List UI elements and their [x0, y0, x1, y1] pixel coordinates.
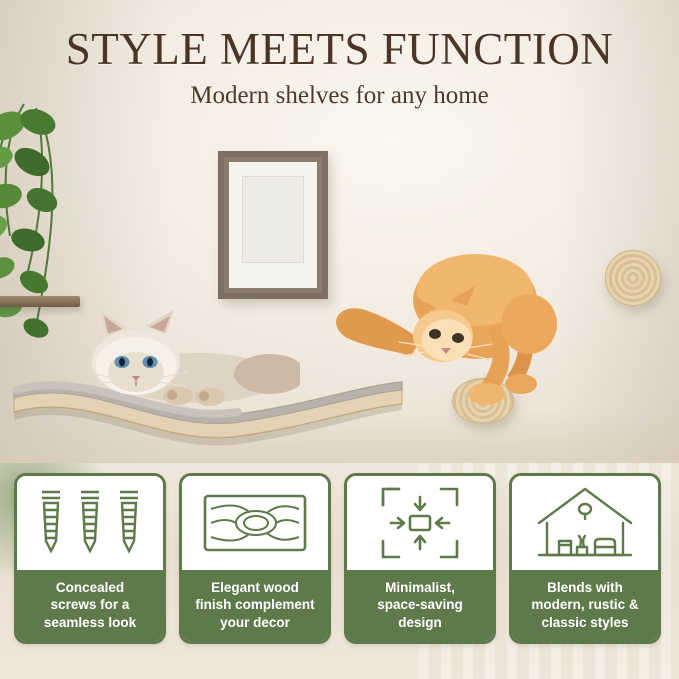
sisal-step-right — [605, 250, 661, 306]
product-infographic: Concealed screws for a seamless look — [0, 0, 679, 679]
feature-label-line: Elegant wood — [195, 579, 314, 596]
frame-mat — [229, 162, 317, 288]
feature-card-label: Minimalist, space-saving design — [347, 570, 493, 641]
feature-label-line: finish complement — [195, 596, 314, 613]
feature-card-label: Concealed screws for a seamless look — [17, 570, 163, 641]
feature-label-line: Concealed — [44, 579, 136, 596]
wall-art-frame — [218, 151, 328, 299]
minimal-space-icon — [377, 483, 463, 563]
feature-label-line: design — [377, 614, 463, 631]
feature-card-label: Elegant wood finish complement your deco… — [182, 570, 328, 641]
feature-card-label: Blends with modern, rustic & classic sty… — [512, 570, 658, 641]
card-icon-area — [182, 476, 328, 570]
plant-shelf — [0, 296, 80, 307]
header-block: STYLE MEETS FUNCTION Modern shelves for … — [0, 26, 679, 110]
feature-label-line: your decor — [195, 614, 314, 631]
feature-label-line: seamless look — [44, 614, 136, 631]
card-icon-area — [347, 476, 493, 570]
orange-cat — [325, 228, 575, 418]
feature-card-concealed-screws[interactable]: Concealed screws for a seamless look — [14, 473, 166, 644]
feature-label-line: screws for a — [44, 596, 136, 613]
wood-grain-icon — [199, 486, 311, 560]
feature-label-line: classic styles — [531, 614, 638, 631]
page-title: STYLE MEETS FUNCTION — [0, 26, 679, 73]
feature-label-line: modern, rustic & — [531, 596, 638, 613]
feature-strip: Concealed screws for a seamless look — [0, 463, 679, 679]
card-icon-area — [512, 476, 658, 570]
page-subtitle: Modern shelves for any home — [0, 82, 679, 110]
siamese-cat — [70, 300, 300, 415]
screws-icon — [35, 484, 145, 562]
card-icon-area — [17, 476, 163, 570]
feature-card-minimalist[interactable]: Minimalist, space-saving design — [344, 473, 496, 644]
feature-card-wood-finish[interactable]: Elegant wood finish complement your deco… — [179, 473, 331, 644]
feature-label-line: space-saving — [377, 596, 463, 613]
feature-card-list: Concealed screws for a seamless look — [14, 473, 665, 644]
frame-inner-print — [242, 176, 304, 263]
feature-label-line: Minimalist, — [377, 579, 463, 596]
home-interior-icon — [533, 483, 637, 563]
feature-card-styles[interactable]: Blends with modern, rustic & classic sty… — [509, 473, 661, 644]
feature-label-line: Blends with — [531, 579, 638, 596]
